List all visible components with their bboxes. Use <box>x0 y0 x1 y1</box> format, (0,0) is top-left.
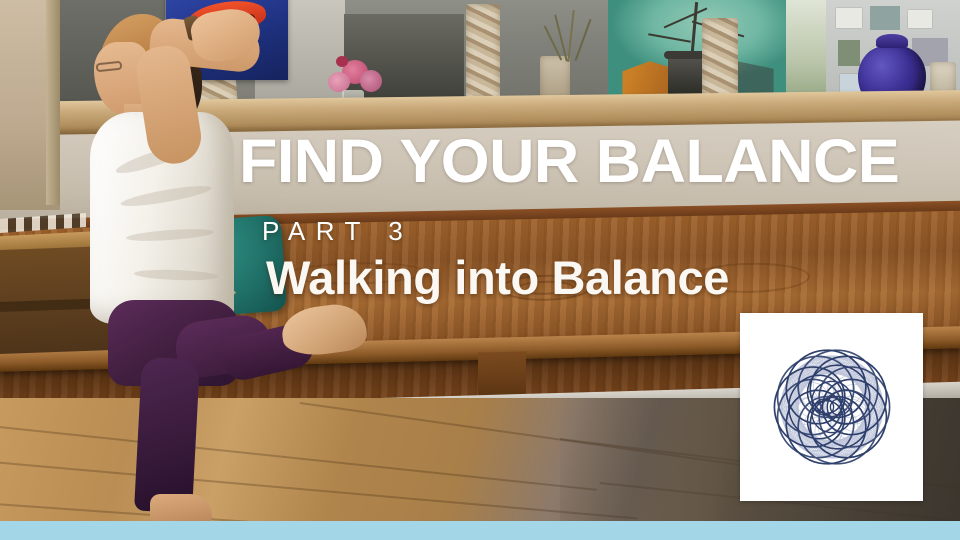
part-label: PART 3 <box>262 216 413 247</box>
spirograph-mandala-logo-icon <box>752 327 912 487</box>
bottom-accent-bar <box>0 521 960 540</box>
standing-leg <box>134 357 200 514</box>
page-title: FIND YOUR BALANCE <box>239 126 960 196</box>
stained-glass-branch <box>664 8 708 29</box>
bright-window <box>786 0 830 106</box>
shell-vase-middle <box>466 4 500 108</box>
logo-card <box>740 313 923 501</box>
video-thumbnail-frame: FIND YOUR BALANCE PART 3 Walking into Ba… <box>0 0 960 540</box>
board-note <box>908 10 932 28</box>
standing-bare-foot <box>150 494 212 524</box>
board-photo <box>870 6 900 30</box>
stained-glass-branch <box>648 33 691 42</box>
subtitle: Walking into Balance <box>266 250 729 305</box>
dried-branch-arrangement <box>540 8 610 62</box>
board-note <box>836 8 862 28</box>
board-photo <box>838 40 860 66</box>
